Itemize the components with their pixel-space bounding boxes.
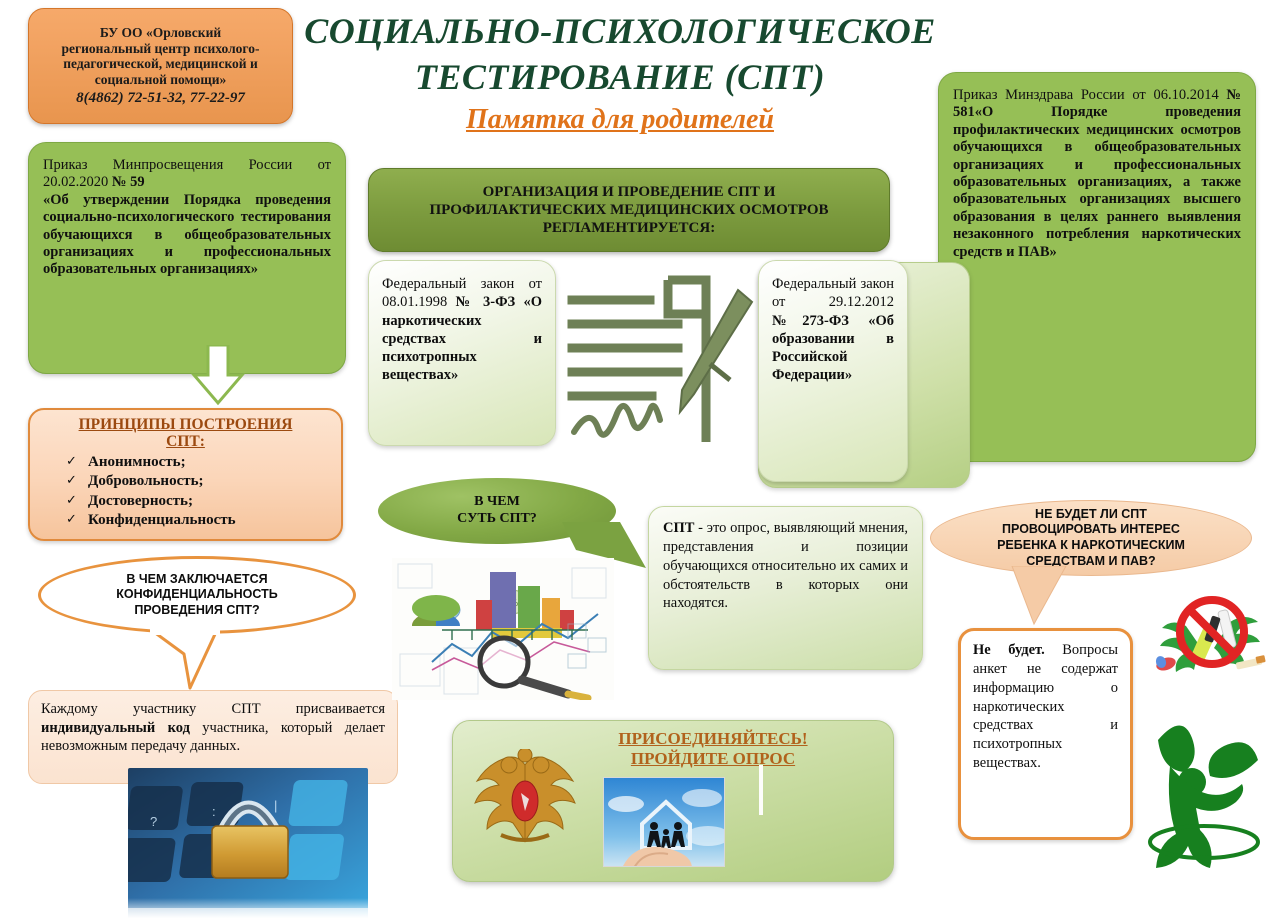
- law-card-minzdrava: Приказ Минздрава России от 06.10.2014 № …: [938, 72, 1256, 462]
- title-divider: [759, 765, 763, 815]
- join-line-2: ПРОЙДИТЕ ОПРОС: [563, 749, 863, 769]
- join-survey-card[interactable]: ПРИСОЕДИНЯЙТЕСЬ! ПРОЙДИТЕ ОПРОС: [452, 720, 894, 882]
- bottom-fade: [0, 898, 1280, 920]
- org-phone: 8(4862) 72-51-32, 77-22-97: [62, 90, 260, 107]
- org-line-2: региональный центр психолого-: [62, 41, 260, 56]
- fedlaw2-intro: Федеральный закон от 29.12.2012: [772, 276, 894, 310]
- essence-q-line-2: СУТЬ СПТ?: [457, 511, 537, 526]
- provocation-question-text: НЕ БУДЕТ ЛИ СПТ ПРОВОЦИРОВАТЬ ИНТЕРЕС РЕ…: [997, 507, 1185, 570]
- regulation-banner: ОРГАНИЗАЦИЯ И ПРОВЕДЕНИЕ СПТ И ПРОФИЛАКТ…: [368, 168, 890, 252]
- analytics-charts-photo: 70%: [392, 558, 614, 700]
- document-with-pen-icon: [560, 272, 760, 454]
- law-right-text: Приказ Минздрава России от 06.10.2014 № …: [953, 87, 1241, 261]
- check-icon: ✓: [66, 492, 77, 509]
- q-line-3: ПРОВЕДЕНИЯ СПТ?: [134, 603, 259, 617]
- law-right-intro: Приказ Минздрава России от 06.10.2014: [953, 87, 1226, 103]
- organization-contact-box: БУ ОО «Орловский региональный центр псих…: [28, 8, 293, 124]
- spt-definition-text: СПТ - это опрос, выявляющий мнения, пред…: [663, 519, 908, 613]
- banner-line-2: ПРОФИЛАКТИЧЕСКИХ МЕДИЦИНСКИХ ОСМОТРОВ: [429, 202, 828, 218]
- organization-contact-text: БУ ОО «Орловский региональный центр псих…: [62, 25, 260, 107]
- prov-q-line-2: ПРОВОЦИРОВАТЬ ИНТЕРЕС: [1002, 522, 1180, 536]
- law-card-minprosvescheniya: Приказ Минпросвещения России от 20.02.20…: [28, 142, 346, 374]
- title-line-1: СОЦИАЛЬНО-ПСИХОЛОГИЧЕСКОЕ: [290, 8, 950, 54]
- family-house-hand-photo: [603, 777, 725, 867]
- law-left-number: № 59: [112, 174, 145, 190]
- prov-q-line-3: РЕБЕНКА К НАРКОТИЧЕСКИМ: [997, 538, 1185, 552]
- provocation-question-bubble: НЕ БУДЕТ ЛИ СПТ ПРОВОЦИРОВАТЬ ИНТЕРЕС РЕ…: [930, 500, 1252, 576]
- poster-title-block: СОЦИАЛЬНО-ПСИХОЛОГИЧЕСКОЕ ТЕСТИРОВАНИЕ (…: [290, 8, 950, 136]
- confidentiality-question-bubble: В ЧЕМ ЗАКЛЮЧАЕТСЯ КОНФИДЕНЦИАЛЬНОСТЬ ПРО…: [38, 556, 356, 634]
- provocation-answer-text: Не будет. Вопросы анкет не содержат инфо…: [973, 641, 1118, 773]
- list-item: ✓Конфиденциальность: [66, 511, 331, 531]
- prov-answer-bold: Не будет.: [973, 642, 1045, 658]
- principle-label: Анонимность;: [88, 454, 186, 470]
- page-subtitle: Памятка для родителей: [290, 104, 950, 136]
- principles-heading-line2: СПТ:: [166, 433, 205, 450]
- provocation-answer-box: Не будет. Вопросы анкет не содержат инфо…: [958, 628, 1133, 840]
- fedlaw2-body: №273-ФЗ «Об образовании в Российской Фед…: [772, 313, 894, 384]
- federal-law-273fz-card: Федеральный закон от 29.12.2012 №273-ФЗ …: [758, 260, 908, 482]
- law-right-body: «О Порядке проведения профилактических м…: [953, 104, 1241, 259]
- svg-text:?: ?: [150, 814, 157, 829]
- essence-question-text: В ЧЕМ СУТЬ СПТ?: [457, 494, 537, 528]
- law-left-text: Приказ Минпросвещения России от 20.02.20…: [43, 157, 331, 279]
- principle-label: Конфиденциальность: [88, 512, 236, 528]
- confidentiality-answer-text: Каждому участнику СПТ присваивается инди…: [41, 700, 385, 756]
- list-item: ✓Добровольность;: [66, 472, 331, 492]
- principles-heading: ПРИНЦИПЫ ПОСТРОЕНИЯ СПТ:: [40, 416, 331, 451]
- prov-answer-body: Вопросы анкет не содержат информацию о н…: [973, 642, 1118, 771]
- spt-def-body: - это опрос, выявляющий мнения, представ…: [663, 520, 908, 611]
- principles-heading-line1: ПРИНЦИПЫ ПОСТРОЕНИЯ: [79, 416, 293, 433]
- banner-line-3: РЕГЛАМЕНТИРУЕТСЯ:: [543, 220, 715, 236]
- speech-bubble-tail-icon: [150, 628, 220, 690]
- law-left-body: «Об утверждении Порядка проведения социа…: [43, 192, 331, 278]
- principle-label: Добровольность;: [88, 473, 204, 489]
- list-item: ✓Достоверность;: [66, 492, 331, 512]
- spt-definition-box: СПТ - это опрос, выявляющий мнения, пред…: [648, 506, 923, 670]
- federal-law-3fz-card: Федеральный закон от 08.01.1998 № 3-ФЗ «…: [368, 260, 556, 446]
- prov-q-line-1: НЕ БУДЕТ ЛИ СПТ: [1035, 507, 1147, 521]
- list-item: ✓Анонимность;: [66, 453, 331, 473]
- poster-canvas: БУ ОО «Орловский региональный центр псих…: [0, 0, 1280, 920]
- arrow-down-icon: [190, 345, 246, 407]
- check-icon: ✓: [66, 453, 77, 470]
- banner-line-1: ОРГАНИЗАЦИЯ И ПРОВЕДЕНИЕ СПТ И: [483, 184, 776, 200]
- federal-law-3fz-text: Федеральный закон от 08.01.1998 № 3-ФЗ «…: [382, 275, 542, 385]
- principles-box: ПРИНЦИПЫ ПОСТРОЕНИЯ СПТ: ✓Анонимность; ✓…: [28, 408, 343, 541]
- svg-text::: :: [212, 804, 216, 819]
- join-survey-title: ПРИСОЕДИНЯЙТЕСЬ! ПРОЙДИТЕ ОПРОС: [563, 729, 863, 768]
- spt-def-bold: СПТ: [663, 520, 694, 536]
- answer-bold: индивидуальный код: [41, 720, 190, 736]
- no-drugs-prohibition-icon: [1152, 588, 1270, 680]
- org-line-3: педагогической, медицинской и: [63, 56, 258, 71]
- essence-q-line-1: В ЧЕМ: [474, 494, 520, 509]
- org-line-1: БУ ОО «Орловский: [100, 25, 221, 40]
- q-line-2: КОНФИДЕНЦИАЛЬНОСТЬ: [116, 587, 277, 601]
- confidentiality-question-text: В ЧЕМ ЗАКЛЮЧАЕТСЯ КОНФИДЕНЦИАЛЬНОСТЬ ПРО…: [116, 572, 277, 618]
- q-line-1: В ЧЕМ ЗАКЛЮЧАЕТСЯ: [126, 572, 267, 586]
- answer-part-1: Каждому участнику СПТ присваивается: [41, 701, 385, 717]
- check-icon: ✓: [66, 511, 77, 528]
- org-line-4: социальной помощи»: [95, 72, 227, 87]
- join-line-1: ПРИСОЕДИНЯЙТЕСЬ!: [563, 729, 863, 749]
- double-headed-eagle-emblem-icon: [471, 749, 579, 853]
- check-icon: ✓: [66, 472, 77, 489]
- page-title: СОЦИАЛЬНО-ПСИХОЛОГИЧЕСКОЕ ТЕСТИРОВАНИЕ (…: [290, 8, 950, 100]
- title-line-2: ТЕСТИРОВАНИЕ (СПТ): [290, 54, 950, 100]
- banner-text: ОРГАНИЗАЦИЯ И ПРОВЕДЕНИЕ СПТ И ПРОФИЛАКТ…: [429, 183, 828, 238]
- eco-person-leaf-icon: [1146, 700, 1274, 878]
- law-left-intro: Приказ Минпросвещения России от 20.02.20…: [43, 157, 331, 190]
- principles-list: ✓Анонимность; ✓Добровольность; ✓Достовер…: [40, 453, 331, 531]
- federal-law-273fz-text: Федеральный закон от 29.12.2012 №273-ФЗ …: [772, 275, 894, 385]
- speech-bubble-tail-icon: [1010, 566, 1070, 628]
- svg-text:|: |: [274, 798, 277, 813]
- principle-label: Достоверность;: [88, 493, 193, 509]
